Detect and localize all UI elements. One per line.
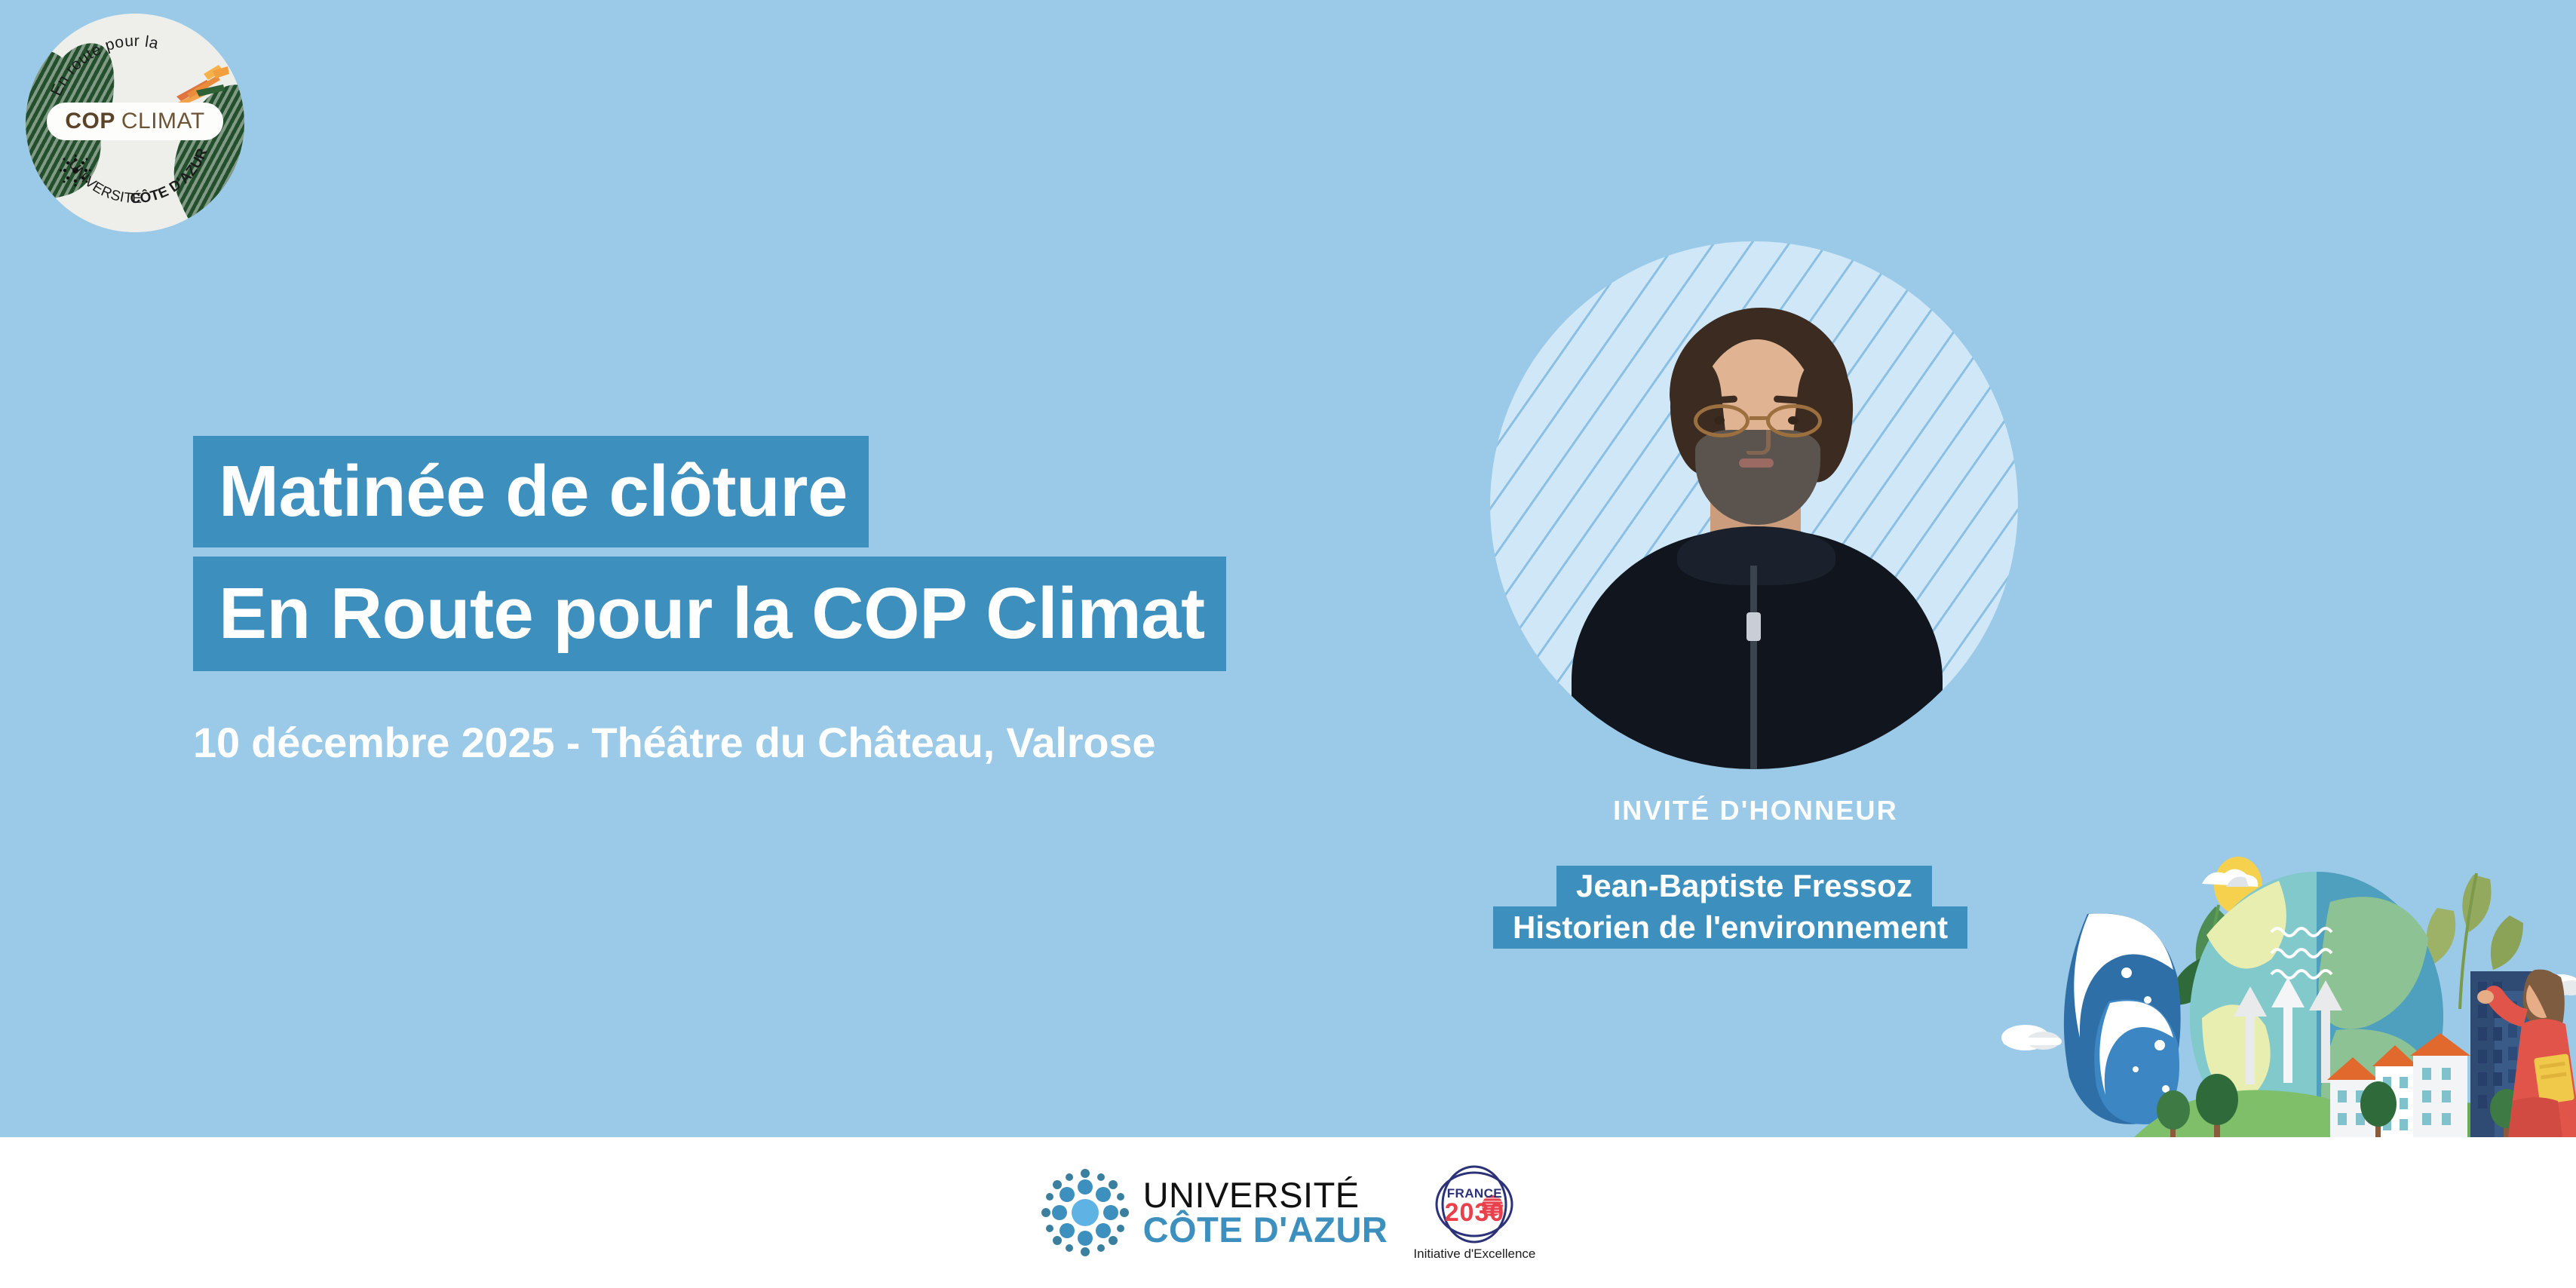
cop-logo-arc-bottom: UNIVERSITÉ CÔTE D'AZUR (26, 14, 244, 232)
uca-name-line-2: CÔTE D'AZUR (1143, 1213, 1388, 1247)
france-2030-caption: Initiative d'Excellence (1413, 1247, 1535, 1262)
france-2030-bottom-label: 2030 (1434, 1198, 1515, 1228)
glasses-lens-right (1766, 404, 1822, 437)
event-date-venue: 10 décembre 2025 - Théâtre du Château, V… (193, 718, 1155, 767)
event-title-line-1: Matinée de clôture (193, 436, 869, 547)
svg-text:CÔTE D'AZUR: CÔTE D'AZUR (130, 146, 211, 207)
glasses-lens-left (1694, 404, 1750, 437)
france-2030-badge-icon: FRANCE 2030 (1434, 1164, 1515, 1245)
event-title-line-2: En Route pour la COP Climat (193, 557, 1226, 671)
portrait-zipper-pull (1746, 612, 1761, 641)
guest-of-honour-label: INVITÉ D'HONNEUR (1492, 795, 2019, 826)
portrait-mouth (1739, 458, 1774, 468)
ocean-wave-icon (2064, 913, 2181, 1124)
portrait-glasses-icon (1691, 404, 1825, 439)
cop-arc-bottom-label-bold: CÔTE D'AZUR (130, 146, 211, 207)
speaker-portrait-figure (1490, 241, 2018, 769)
uca-name-line-1: UNIVERSITÉ (1143, 1178, 1388, 1213)
footer-logos: UNIVERSITÉ CÔTE D'AZUR (0, 1137, 2576, 1288)
universite-cote-dazur-logo[interactable]: UNIVERSITÉ CÔTE D'AZUR (1041, 1168, 1388, 1257)
event-banner: En route pour la COP CLIMAT (0, 0, 2576, 1288)
temperature-arrow-icon (2234, 977, 2342, 1084)
uca-dots-icon (1041, 1168, 1130, 1257)
uca-wordmark: UNIVERSITÉ CÔTE D'AZUR (1143, 1178, 1388, 1247)
speaker-portrait (1490, 241, 2018, 769)
cop-climat-logo[interactable]: En route pour la COP CLIMAT (26, 14, 244, 232)
speaker-role: Historien de l'environnement (1493, 906, 1967, 949)
speaker-name: Jean-Baptiste Fressoz (1556, 866, 1932, 906)
cloud-icon (2001, 1025, 2062, 1050)
france-2030-logo[interactable]: FRANCE 2030 Initiative d'Excellence (1413, 1164, 1535, 1262)
banner-stage: En route pour la COP CLIMAT (0, 0, 2576, 1137)
portrait-zipper (1750, 566, 1757, 769)
climate-change-illustration (1976, 830, 2576, 1137)
glasses-bridge (1750, 416, 1768, 420)
